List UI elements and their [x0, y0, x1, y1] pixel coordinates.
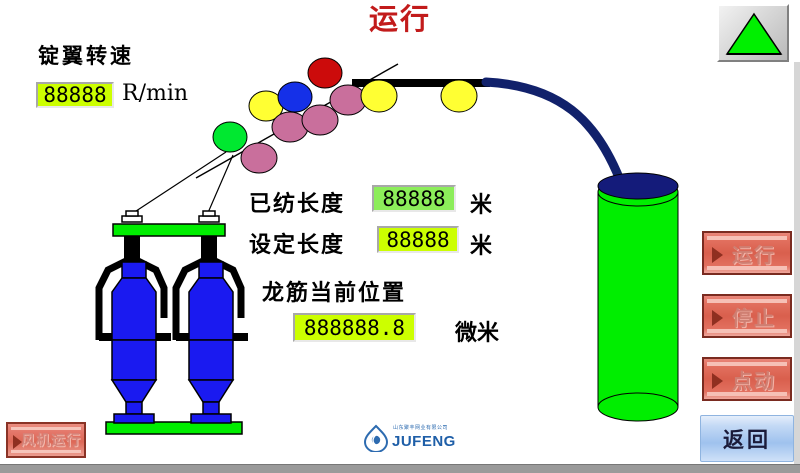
roving-ball: [241, 143, 277, 173]
spindle-left: [99, 236, 171, 423]
yarn-path: [486, 82, 620, 180]
stop-button[interactable]: 停止: [702, 294, 792, 338]
spun-length-unit: 米: [470, 187, 492, 219]
spun-length-label: 已纺长度: [249, 186, 345, 218]
speed-label: 锭翼转速: [38, 40, 134, 70]
roving-ball: [302, 105, 338, 135]
stop-button-label: 停止: [718, 302, 776, 331]
fan-run-button-label: 风机运行: [11, 430, 81, 450]
set-length-value[interactable]: 88888: [377, 226, 459, 253]
company-logo: 山东聚丰网业有限公司 JUFENG: [362, 424, 458, 454]
set-length-label: 设定长度: [249, 227, 345, 259]
run-button[interactable]: 运行: [702, 231, 792, 275]
speed-unit: R/min: [122, 81, 188, 106]
jog-button[interactable]: 点动: [702, 357, 792, 401]
status-bar: [0, 464, 800, 473]
roving-ball: [361, 80, 397, 112]
green-up-triangle-icon: [725, 12, 783, 56]
up-triangle-button[interactable]: [717, 4, 789, 62]
rib-position-value[interactable]: 888888.8: [293, 313, 416, 342]
button-highlight-bottom: [11, 450, 81, 453]
roving-ball: [213, 122, 247, 152]
set-length-unit: 米: [470, 228, 492, 260]
rib-position-unit: 微米: [455, 315, 499, 347]
back-button[interactable]: 返回: [700, 415, 794, 462]
speed-value[interactable]: 88888: [36, 82, 114, 108]
roving-ball: [308, 58, 342, 88]
jog-button-label: 点动: [718, 365, 776, 394]
logo-wordmark: JUFENG: [392, 433, 456, 450]
hmi-screen: 运行 锭翼转速 88888 R/min 已纺长度 88888 米 设定长度 88…: [0, 0, 800, 473]
spindle-assembly: [99, 211, 248, 434]
roving-ball: [330, 85, 366, 115]
logo-subtitle: 山东聚丰网业有限公司: [393, 424, 448, 431]
spun-length-value[interactable]: 88888: [372, 185, 456, 212]
rib-position-label: 龙筋当前位置: [262, 275, 406, 307]
page-title: 运行: [330, 2, 470, 36]
yarn-can: [598, 173, 678, 421]
jufeng-droplet-icon: [362, 424, 390, 452]
fan-run-button[interactable]: 风机运行: [6, 422, 86, 458]
right-scroll-strip[interactable]: [794, 62, 800, 465]
run-button-label: 运行: [718, 239, 776, 268]
spindle-right: [176, 236, 248, 423]
roving-ball: [441, 80, 477, 112]
roving-ball: [278, 82, 312, 112]
roving-ball-group: [213, 58, 477, 173]
